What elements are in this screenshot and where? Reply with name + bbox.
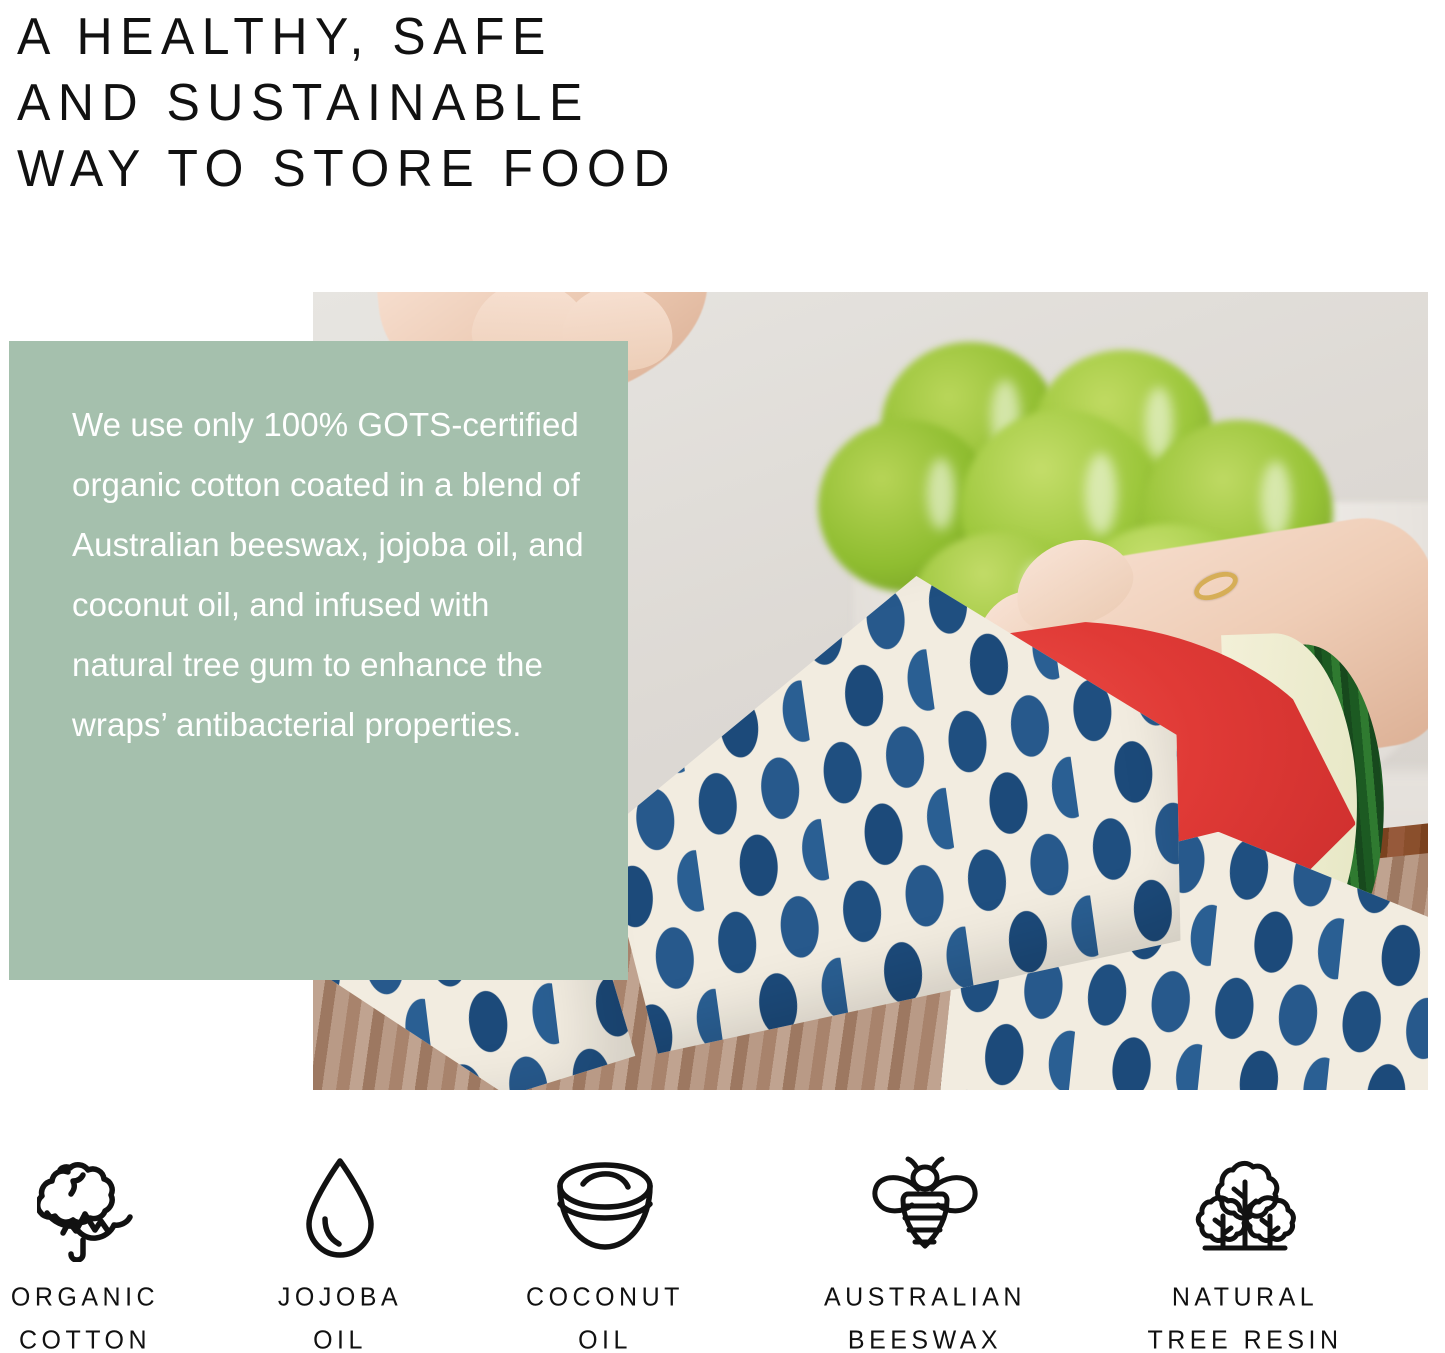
ingredient-label: ORGANIC COTTON [0, 1276, 215, 1353]
ingredient-label-line1: JOJOBA [210, 1276, 470, 1319]
ingredient-label: COCONUT OIL [475, 1276, 735, 1353]
ingredient-label: AUSTRALIAN BEESWAX [795, 1276, 1055, 1353]
ingredient-organic-cotton: ORGANIC COTTON [0, 1150, 215, 1353]
ingredient-coconut-oil: COCONUT OIL [475, 1150, 735, 1353]
trees-icon [1115, 1150, 1375, 1270]
ingredient-label-line2: TREE RESIN [1115, 1319, 1375, 1353]
page-title: A HEALTHY, SAFE AND SUSTAINABLE WAY TO S… [17, 2, 1117, 200]
callout-text: We use only 100% GOTS-certified organic … [72, 395, 592, 755]
headline-line-1: A HEALTHY, SAFE [17, 2, 1117, 71]
ingredient-jojoba-oil: JOJOBA OIL [210, 1150, 470, 1353]
ingredient-label-line2: OIL [210, 1319, 470, 1353]
ingredient-label-line2: OIL [475, 1319, 735, 1353]
ingredient-natural-tree-resin: NATURAL TREE RESIN [1115, 1150, 1375, 1353]
ingredient-icon-row: ORGANIC COTTON JOJOBA OIL [0, 1150, 1445, 1353]
callout-box: We use only 100% GOTS-certified organic … [9, 341, 628, 980]
ingredient-label-line1: ORGANIC [0, 1276, 215, 1319]
bee-icon [795, 1150, 1055, 1270]
headline-line-2: AND SUSTAINABLE [17, 68, 1117, 137]
ingredient-label: JOJOBA OIL [210, 1276, 470, 1353]
headline-line-3: WAY TO STORE FOOD [17, 134, 1117, 203]
ingredient-label-line1: COCONUT [475, 1276, 735, 1319]
coconut-bowl-icon [475, 1150, 735, 1270]
ingredient-label: NATURAL TREE RESIN [1115, 1276, 1375, 1353]
ingredient-label-line1: NATURAL [1115, 1276, 1375, 1319]
cotton-boll-icon [0, 1150, 215, 1270]
ingredient-australian-beeswax: AUSTRALIAN BEESWAX [795, 1150, 1055, 1353]
ingredient-label-line1: AUSTRALIAN [795, 1276, 1055, 1319]
ingredient-label-line2: BEESWAX [795, 1319, 1055, 1353]
water-drop-icon [210, 1150, 470, 1270]
promo-infographic: A HEALTHY, SAFE AND SUSTAINABLE WAY TO S… [0, 0, 1445, 1353]
ingredient-label-line2: COTTON [0, 1319, 215, 1353]
